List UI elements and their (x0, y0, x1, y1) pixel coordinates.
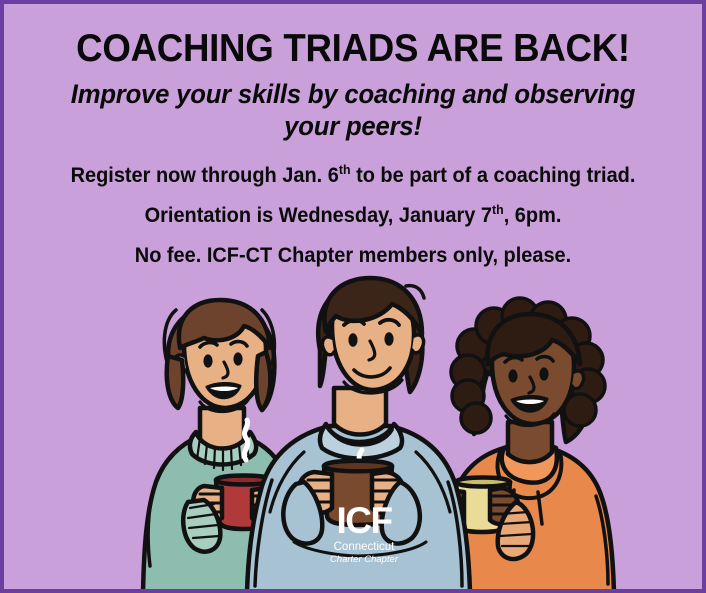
body-line-fee: No fee. ICF-CT Chapter members only, ple… (40, 245, 665, 266)
body-line-register-post: to be part of a coaching triad. (351, 164, 636, 187)
body-line-orientation: Orientation is Wednesday, January 7th, 6… (40, 205, 665, 226)
poster-canvas: ICF Connecticut Charter Chapter COACHING… (0, 0, 706, 593)
body-line-register-pre: Register now through Jan. 6 (71, 164, 339, 187)
body-line-register: Register now through Jan. 6th to be part… (40, 165, 665, 186)
page-subtitle: Improve your skills by coaching and obse… (56, 79, 651, 143)
page-title: COACHING TRIADS ARE BACK! (42, 28, 664, 69)
center-person (247, 278, 470, 593)
body-line-orientation-sup: th (492, 202, 504, 217)
body-line-register-sup: th (339, 162, 351, 177)
body-line-orientation-pre: Orientation is Wednesday, January 7 (145, 204, 492, 227)
poster-text: COACHING TRIADS ARE BACK! Improve your s… (4, 4, 702, 266)
body-line-orientation-post: , 6pm. (504, 204, 562, 227)
body-line-fee-pre: No fee. ICF-CT Chapter members only, ple… (135, 244, 571, 267)
